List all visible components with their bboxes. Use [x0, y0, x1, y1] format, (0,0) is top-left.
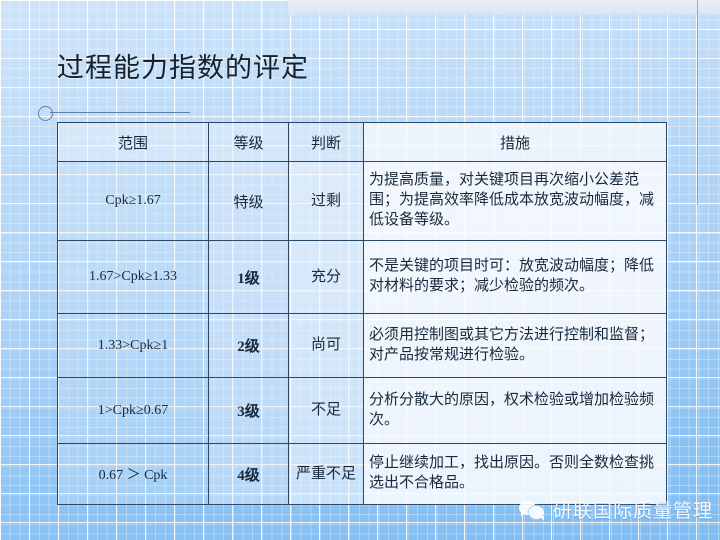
- cpk-evaluation-table: 范围 等级 判断 措施 Cpk≥1.67 特级 过剩 为提高质量，对关键项目再次…: [57, 122, 666, 505]
- cell-judgement: 严重不足: [289, 444, 364, 505]
- cell-action: 必须用控制图或其它方法进行控制和监督；对产品按常规进行检验。: [364, 314, 667, 378]
- cell-range: Cpk≥1.67: [58, 162, 209, 241]
- cell-grade: 特级: [209, 162, 289, 241]
- column-header-range: 范围: [58, 123, 209, 162]
- wechat-icon: [519, 499, 546, 521]
- top-vertical-rule: [697, 0, 698, 205]
- table-row: Cpk≥1.67 特级 过剩 为提高质量，对关键项目再次缩小公差范围；为提高效率…: [58, 162, 667, 241]
- decorative-circle: [38, 106, 53, 121]
- cell-grade: 2级: [209, 314, 289, 378]
- cell-grade: 4级: [209, 444, 289, 505]
- cell-range: 1.33>Cpk≥1: [58, 314, 209, 378]
- cell-judgement: 尚可: [289, 314, 364, 378]
- slide-canvas: 过程能力指数的评定 范围 等级 判断 措施 Cpk≥1.67: [0, 0, 720, 540]
- cell-action: 分析分散大的原因，权术检验或增加检验频次。: [364, 378, 667, 444]
- cell-grade: 3级: [209, 378, 289, 444]
- column-header-grade: 等级: [209, 123, 289, 162]
- table-row: 1.67>Cpk≥1.33 1级 充分 不是关键的项目时可：放宽波动幅度；降低对…: [58, 241, 667, 314]
- cell-judgement: 过剩: [289, 162, 364, 241]
- cell-action: 不是关键的项目时可：放宽波动幅度；降低对材料的要求；减少检验的频次。: [364, 241, 667, 314]
- cell-range: 0.67 ＞ Cpk: [58, 444, 209, 505]
- top-decorative-band: [288, 0, 720, 15]
- page-title: 过程能力指数的评定: [57, 46, 309, 85]
- column-header-action: 措施: [364, 123, 667, 162]
- table-header-row: 范围 等级 判断 措施: [58, 123, 667, 162]
- column-header-judgement: 判断: [289, 123, 364, 162]
- table-row: 1>Cpk≥0.67 3级 不足 分析分散大的原因，权术检验或增加检验频次。: [58, 378, 667, 444]
- decorative-rule: [50, 112, 190, 113]
- footer-label: 研联国际质量管理: [553, 496, 713, 523]
- cell-judgement: 不足: [289, 378, 364, 444]
- footer-watermark: 研联国际质量管理: [519, 496, 713, 523]
- cell-range: 1>Cpk≥0.67: [58, 378, 209, 444]
- cell-action: 为提高质量，对关键项目再次缩小公差范围；为提高效率降低成本放宽波动幅度，减低设备…: [364, 162, 667, 241]
- cell-judgement: 充分: [289, 241, 364, 314]
- table-row: 1.33>Cpk≥1 2级 尚可 必须用控制图或其它方法进行控制和监督；对产品按…: [58, 314, 667, 378]
- cell-grade: 1级: [209, 241, 289, 314]
- cell-range: 1.67>Cpk≥1.33: [58, 241, 209, 314]
